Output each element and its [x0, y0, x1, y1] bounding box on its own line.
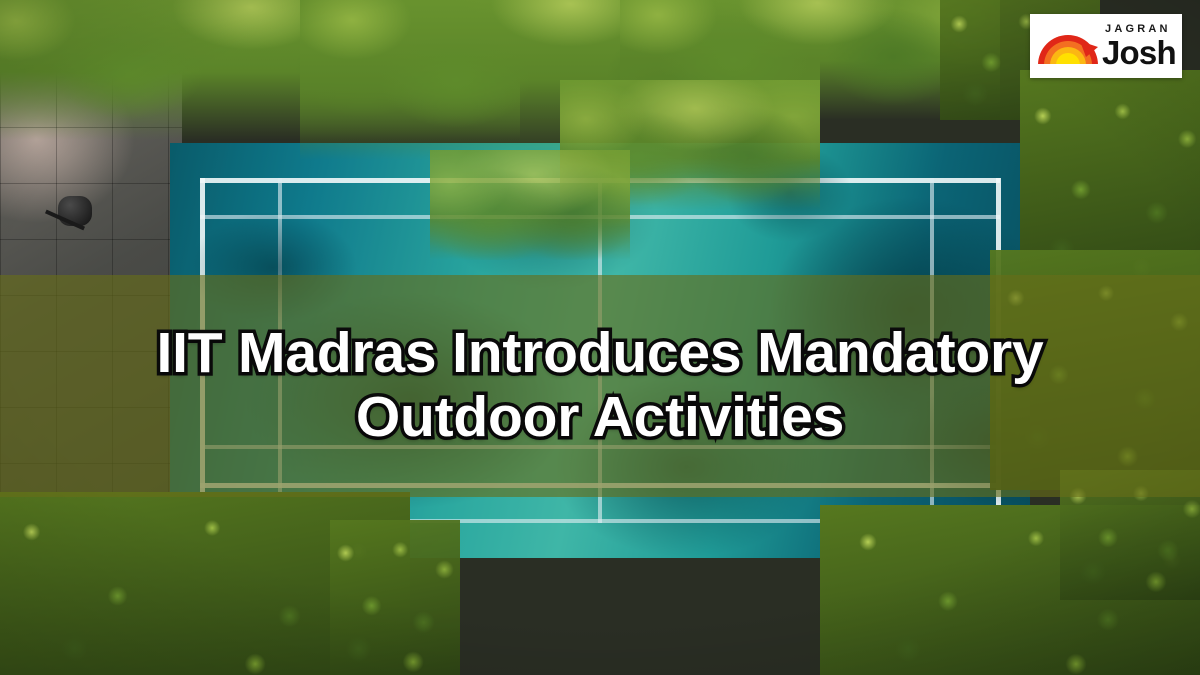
- news-thumbnail-card: IIT Madras Introduces Mandatory Outdoor …: [0, 0, 1200, 675]
- bush-bottom-left-edge: [330, 520, 460, 675]
- headline-line-2: Outdoor Activities: [356, 387, 844, 449]
- headline-line-1: IIT Madras Introduces Mandatory: [157, 323, 1044, 385]
- jagran-josh-logo[interactable]: JAGRAN Josh: [1030, 14, 1182, 78]
- logo-text-group: JAGRAN Josh: [1102, 24, 1176, 69]
- logo-kicker: JAGRAN: [1102, 24, 1176, 35]
- sunrise-icon: [1036, 23, 1100, 69]
- headline-band: IIT Madras Introduces Mandatory Outdoor …: [0, 275, 1200, 497]
- tree-canopy-court-overhang: [430, 150, 630, 260]
- logo-wordmark: Josh: [1102, 36, 1176, 69]
